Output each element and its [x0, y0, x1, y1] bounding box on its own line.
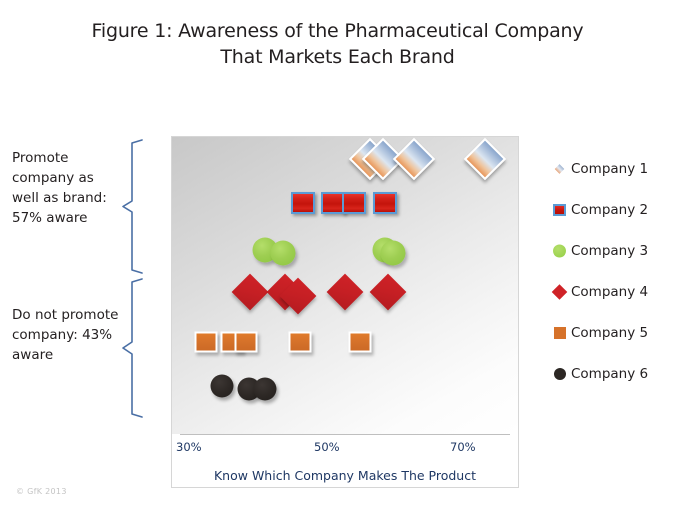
legend-circle-icon-company-6: [554, 368, 566, 380]
page-title-line-2: That Markets Each Brand: [0, 44, 675, 70]
legend-square-icon-company-5: [554, 327, 566, 339]
legend-label-company-1: Company 1: [571, 161, 648, 177]
x-axis-title: Know Which Company Makes The Product: [171, 468, 519, 483]
annotation-do-not-promote-company: Do not promote company: 43% aware: [12, 305, 124, 365]
legend-label-company-4: Company 4: [571, 284, 648, 300]
legend-item-company-4[interactable]: Company 4: [552, 271, 672, 312]
data-point-company-1[interactable]: [464, 138, 506, 180]
data-point-company-5[interactable]: [235, 332, 258, 353]
legend-item-company-3[interactable]: Company 3: [552, 230, 672, 271]
data-point-company-5[interactable]: [195, 332, 218, 353]
data-point-company-5[interactable]: [289, 332, 312, 353]
x-tick-label-50: 50%: [314, 440, 340, 454]
data-point-company-4[interactable]: [327, 274, 364, 311]
brace-bracket-top: [122, 139, 144, 274]
legend-square-icon-company-2: [553, 204, 566, 216]
page-title-line-1: Figure 1: Awareness of the Pharmaceutica…: [0, 18, 675, 44]
legend-item-company-2[interactable]: Company 2: [552, 189, 672, 230]
data-point-company-2[interactable]: [342, 192, 366, 214]
legend-item-company-6[interactable]: Company 6: [552, 353, 672, 394]
data-point-company-3[interactable]: [381, 241, 406, 266]
legend-diamond-icon-company-4: [552, 284, 568, 300]
x-tick-label-70: 70%: [450, 440, 476, 454]
page-title: Figure 1: Awareness of the Pharmaceutica…: [0, 18, 675, 70]
legend-item-company-5[interactable]: Company 5: [552, 312, 672, 353]
legend-diamond-icon-company-1: [553, 162, 566, 175]
footer-credit: © GfK 2013: [16, 487, 67, 496]
legend-label-company-3: Company 3: [571, 243, 648, 259]
legend-label-company-5: Company 5: [571, 325, 648, 341]
x-axis-line: [180, 434, 510, 435]
data-point-company-4[interactable]: [232, 274, 269, 311]
legend-item-company-1[interactable]: Company 1: [552, 148, 672, 189]
x-tick-label-30: 30%: [176, 440, 202, 454]
plot-area[interactable]: [172, 137, 518, 434]
legend: Company 1 Company 2 Company 3 Company 4 …: [552, 148, 672, 394]
data-point-company-4[interactable]: [370, 274, 407, 311]
data-point-company-5[interactable]: [349, 332, 372, 353]
data-point-company-2[interactable]: [291, 192, 315, 214]
data-point-company-3[interactable]: [271, 241, 296, 266]
data-point-company-2[interactable]: [373, 192, 397, 214]
data-point-company-6[interactable]: [254, 378, 277, 401]
legend-circle-icon-company-3: [553, 244, 566, 257]
legend-label-company-6: Company 6: [571, 366, 648, 382]
data-point-company-6[interactable]: [211, 375, 234, 398]
legend-label-company-2: Company 2: [571, 202, 648, 218]
annotation-promote-company: Promote company as well as brand: 57% aw…: [12, 148, 124, 228]
data-point-company-1[interactable]: [393, 138, 435, 180]
brace-bracket-bottom: [122, 278, 144, 418]
